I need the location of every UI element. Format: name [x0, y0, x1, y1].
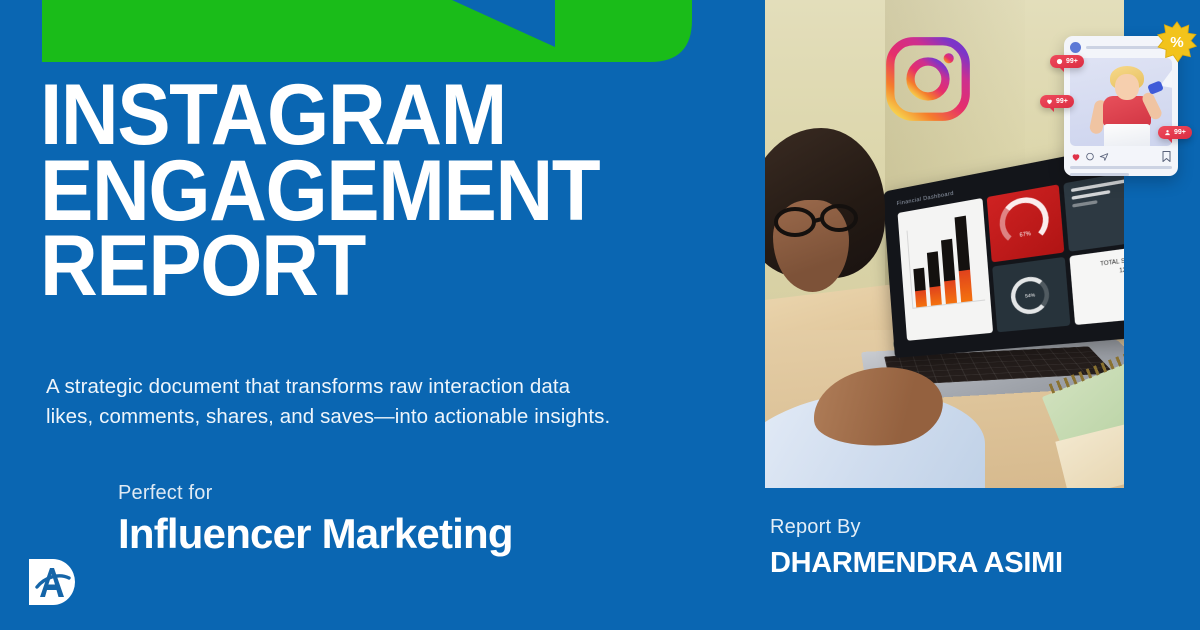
poster-canvas: Financial Dashboard 67% [0, 0, 1200, 630]
notification-badge-likes: 99+ [1040, 95, 1074, 108]
left-content-column: INSTAGRAM ENGAGEMENT REPORT A strategic … [0, 0, 760, 630]
instagram-logo-icon [882, 33, 974, 125]
donut-value: 54% [1025, 292, 1036, 299]
bar-chart-card [898, 198, 994, 341]
post-card-image [1070, 58, 1172, 146]
metric-lines-card [1063, 169, 1125, 251]
perfect-for-label: Perfect for [118, 482, 513, 505]
bar-item [955, 216, 973, 303]
badge-count: 99+ [1066, 58, 1078, 65]
bookmark-icon[interactable] [1162, 151, 1171, 162]
notification-badge-comments: 99+ [1050, 55, 1084, 68]
starburst-percent-label: % [1170, 34, 1184, 51]
notification-badge-followers: 99+ [1158, 126, 1192, 139]
perfect-for-value: Influencer Marketing [118, 512, 513, 556]
page-title: INSTAGRAM ENGAGEMENT REPORT [40, 78, 691, 305]
report-by-label: Report By [770, 516, 1063, 539]
report-by-block: Report By DHARMENDRA ASIMI [770, 516, 1063, 580]
post-card-actions [1070, 151, 1172, 162]
post-caption-line-2 [1070, 173, 1129, 176]
bar-item [927, 251, 942, 305]
character-face [1115, 74, 1139, 100]
heart-icon[interactable] [1071, 152, 1081, 162]
discount-starburst-icon: % [1156, 21, 1198, 63]
eyeglasses-icon [769, 198, 861, 238]
title-line-3: REPORT [40, 229, 691, 305]
comment-icon[interactable] [1085, 152, 1095, 162]
subtitle-line-2: likes, comments, shares, and saves—into … [46, 402, 758, 432]
bar-item [913, 268, 927, 308]
gauge-card: 67% [987, 184, 1064, 262]
kpi-block: TOTAL SALES 125,860 [1069, 246, 1125, 291]
bar-chart-plot [907, 219, 986, 309]
share-icon[interactable] [1099, 152, 1109, 162]
brand-logo-icon[interactable] [23, 553, 79, 611]
report-by-name: DHARMENDRA ASIMI [770, 547, 1063, 580]
donut-card: 54% [992, 257, 1070, 332]
kpi-card: TOTAL SALES 125,860 [1069, 246, 1125, 325]
character-skirt [1104, 124, 1150, 146]
page-subtitle: A strategic document that transforms raw… [46, 372, 758, 431]
perfect-for-block: Perfect for Influencer Marketing [118, 482, 513, 556]
badge-count: 99+ [1056, 98, 1068, 105]
subtitle-line-1: A strategic document that transforms raw… [46, 372, 758, 402]
badge-count: 99+ [1174, 129, 1186, 136]
comment-icon [1056, 58, 1063, 65]
heart-icon [1046, 98, 1053, 105]
follower-icon [1164, 129, 1171, 136]
bar-item [941, 239, 957, 304]
avatar [1070, 42, 1081, 53]
gauge-arc-icon [998, 193, 1051, 248]
post-caption-line-1 [1070, 166, 1172, 169]
